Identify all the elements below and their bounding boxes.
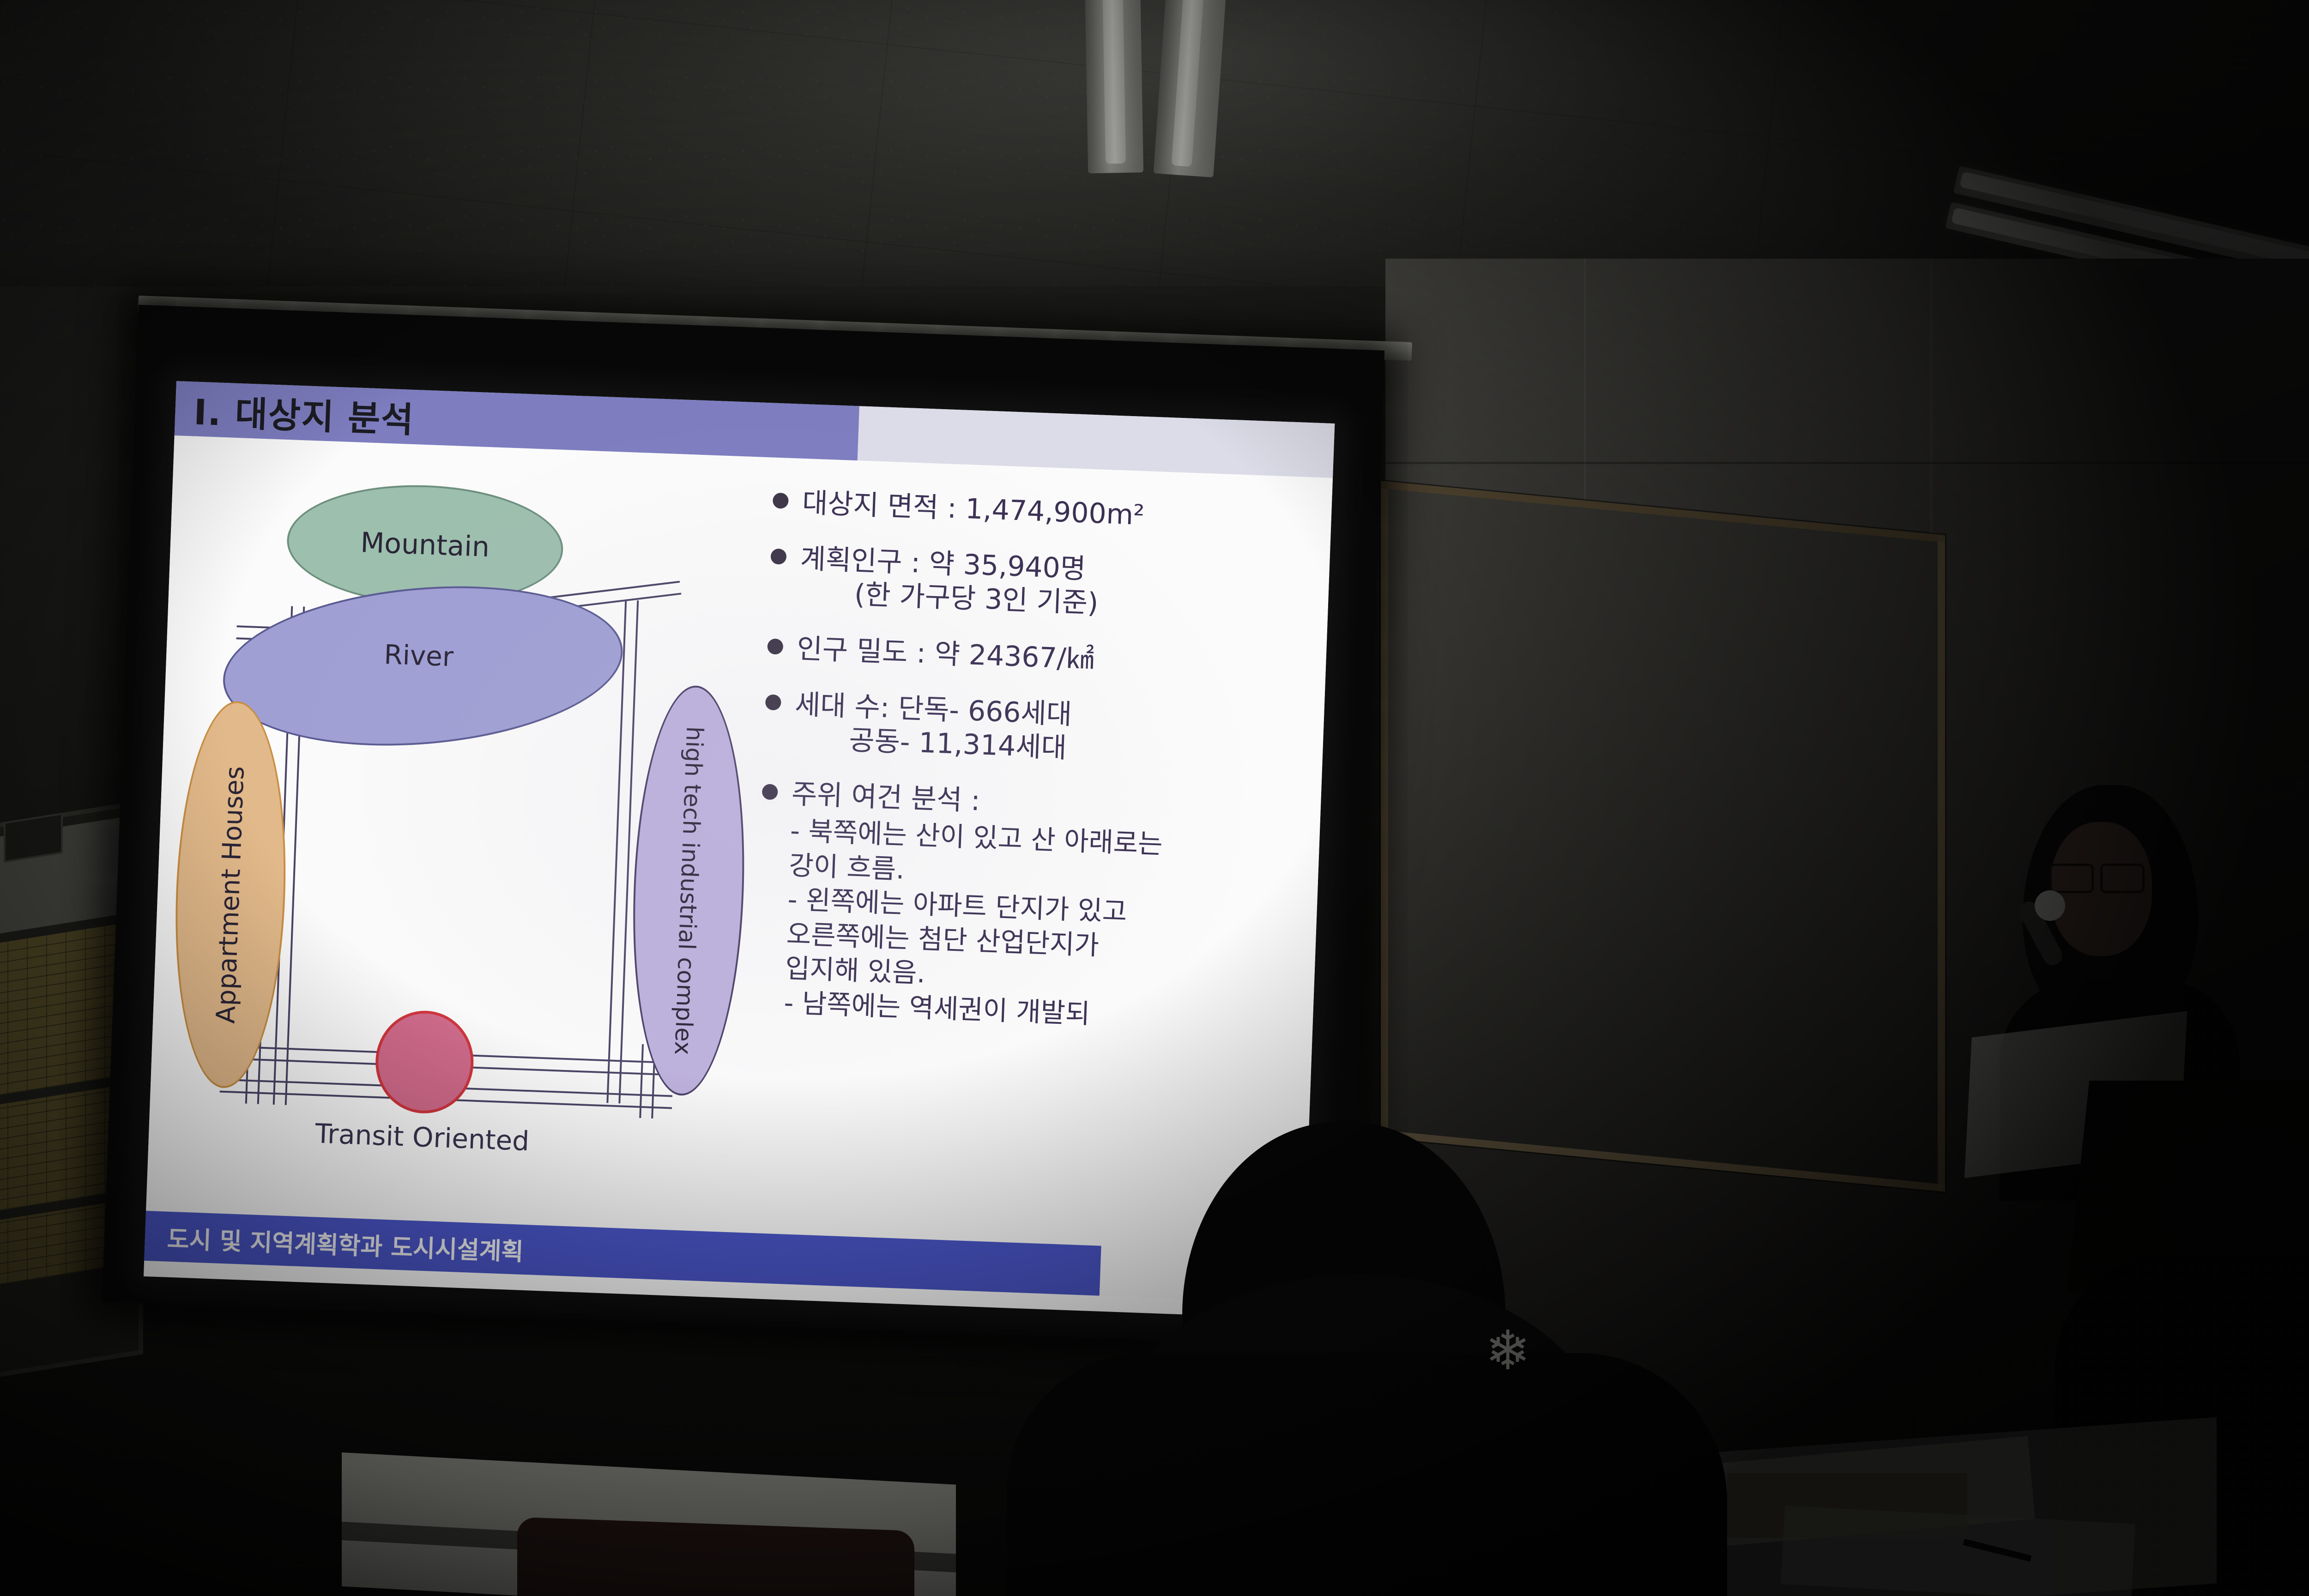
diagram-label-transit-oriented: Transit Oriented — [314, 1118, 530, 1157]
site-analysis-diagram: Mountain River Appartment Houses high te… — [160, 441, 756, 1218]
slide-title: Ⅰ. 대상지 분석 — [193, 384, 415, 442]
glasses-icon — [2049, 864, 2146, 890]
bullet-dot-icon — [765, 694, 781, 710]
bullet-item-analysis: 주위 여건 분석 : - 북쪽에는 산이 있고 산 아래로는 강이 흐름. - … — [754, 776, 1307, 1039]
whiteboard — [1381, 481, 1945, 1192]
presentation-slide: Ⅰ. 대상지 분석 Mountain — [144, 381, 1335, 1319]
bullet-item: 세대 수: 단독- 666세대 공동- 11,314세대 — [763, 687, 1311, 774]
projector-screen: Ⅰ. 대상지 분석 Mountain — [102, 305, 1384, 1347]
bullet-dot-icon — [767, 638, 783, 654]
bullet-item: 대상지 면적 : 1,474,900m² — [772, 485, 1318, 539]
microphone-head — [2035, 890, 2065, 921]
diagram-label-mountain: Mountain — [360, 526, 490, 563]
analysis-heading: 주위 여건 분석 : — [791, 778, 981, 817]
diagram-shape-high-tech-industrial-complex: high tech industrial complex — [626, 683, 751, 1097]
diagram-label-apartment-houses: Appartment Houses — [211, 765, 250, 1024]
diagram-label-high-tech-industrial-complex: high tech industrial complex — [671, 726, 707, 1055]
snowflake-emblem-icon: ❄ — [1480, 1323, 1535, 1378]
bullet-dot-icon — [770, 549, 786, 565]
bullet-dot-icon — [773, 493, 789, 509]
student-body — [1007, 1353, 1727, 1596]
slide-body: Mountain River Appartment Houses high te… — [146, 435, 1333, 1253]
bullet-text: 인구 밀도 : 약 24367/㎢ — [796, 632, 1094, 676]
slide-footer-text: 도시 및 지역계획학과 도시시설계획 — [167, 1219, 524, 1267]
chair-back — [517, 1517, 914, 1596]
screenshot-root: Ⅰ. 대상지 분석 Mountain — [0, 0, 2309, 1596]
bullet-item: 인구 밀도 : 약 24367/㎢ — [767, 631, 1312, 684]
diagram-shape-apartment-houses: Appartment Houses — [169, 699, 292, 1090]
bullet-item: 계획인구 : 약 35,940명 (한 가구당 3인 기준) — [769, 541, 1316, 629]
bullet-dot-icon — [762, 784, 778, 800]
analysis-lines: - 북쪽에는 산이 있고 산 아래로는 강이 흐름. - 왼쪽에는 아파트 단지… — [783, 814, 1163, 1033]
bullet-text: 대상지 면적 : 1,474,900m² — [802, 487, 1145, 532]
slide-bullet-list: 대상지 면적 : 1,474,900m² 계획인구 : 약 35,940명 (한… — [753, 485, 1318, 1062]
diagram-label-river: River — [383, 639, 454, 672]
